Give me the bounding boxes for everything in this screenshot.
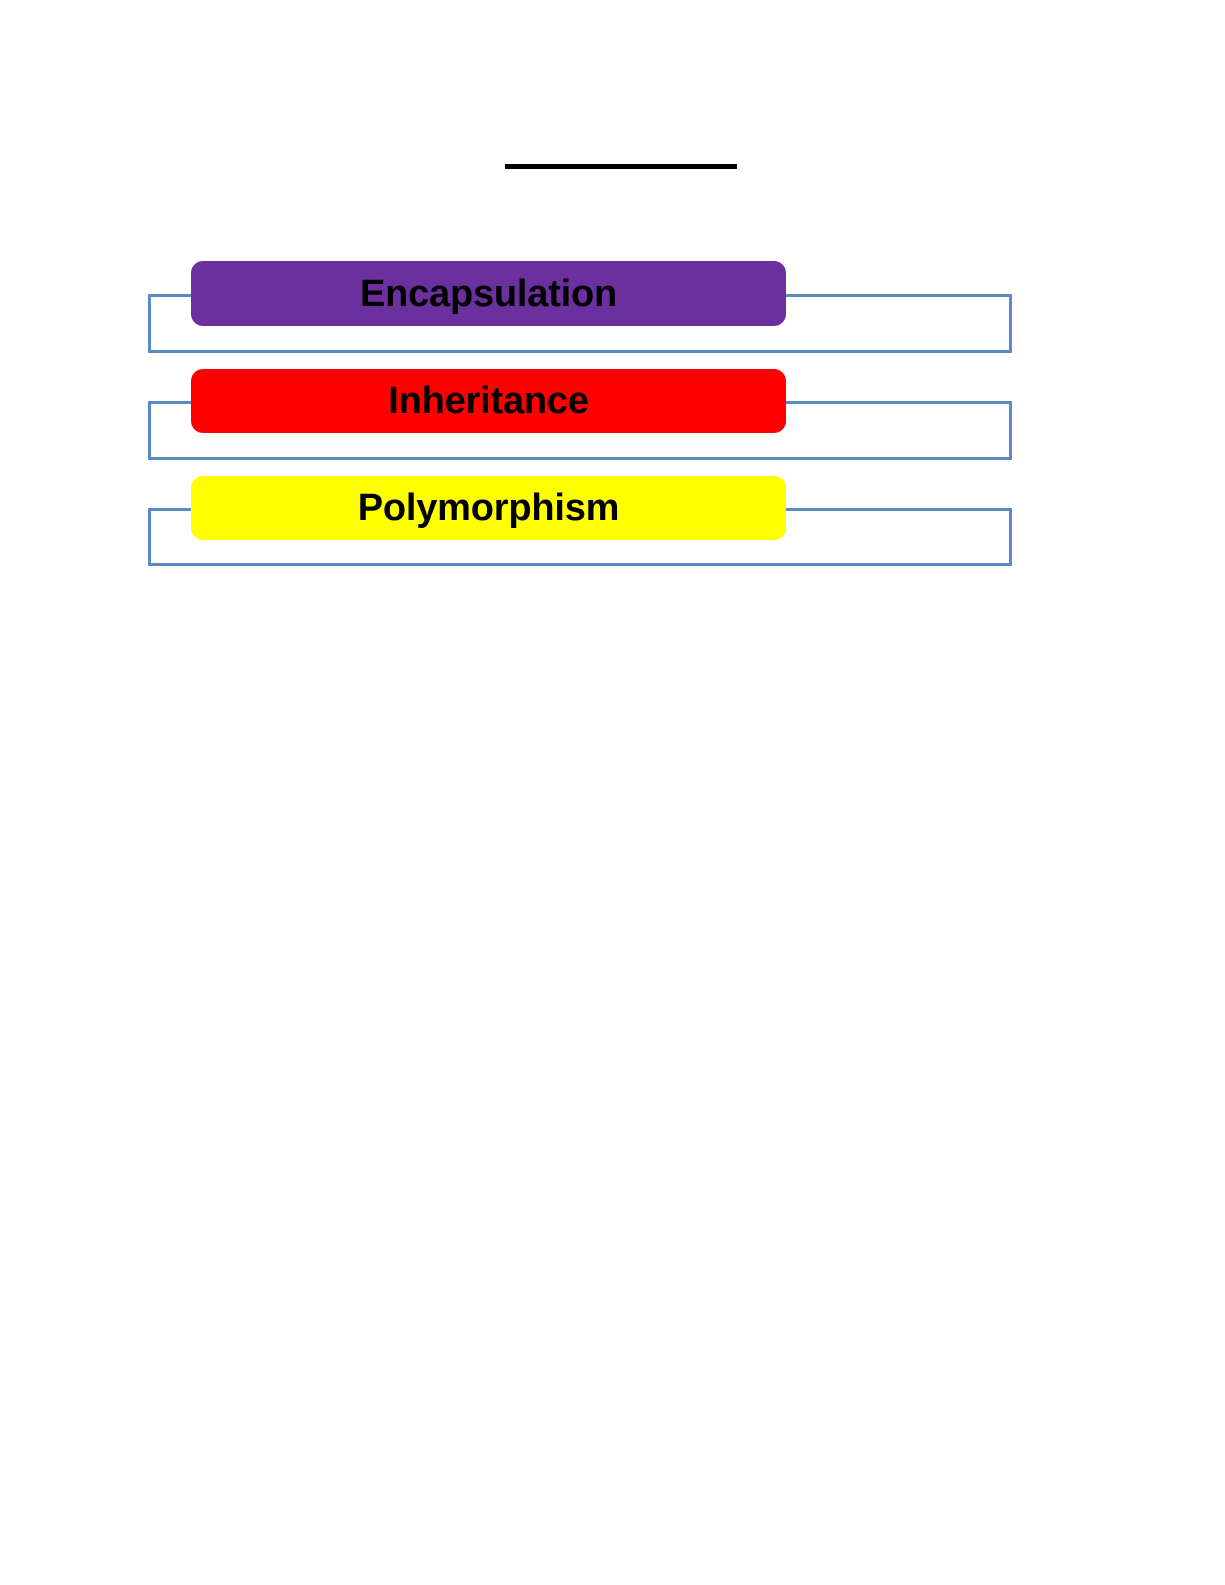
- concept-bar-label: Encapsulation: [360, 275, 617, 313]
- concept-bar-inheritance[interactable]: Inheritance: [191, 369, 786, 433]
- document-page: Encapsulation Inheritance Polymorphism: [0, 0, 1225, 1585]
- concept-bar-polymorphism[interactable]: Polymorphism: [191, 476, 786, 540]
- concept-bar-label: Polymorphism: [358, 489, 620, 527]
- concept-bar-label: Inheritance: [388, 382, 589, 420]
- title-underline-rule: [505, 164, 737, 169]
- concept-bar-encapsulation[interactable]: Encapsulation: [191, 261, 786, 326]
